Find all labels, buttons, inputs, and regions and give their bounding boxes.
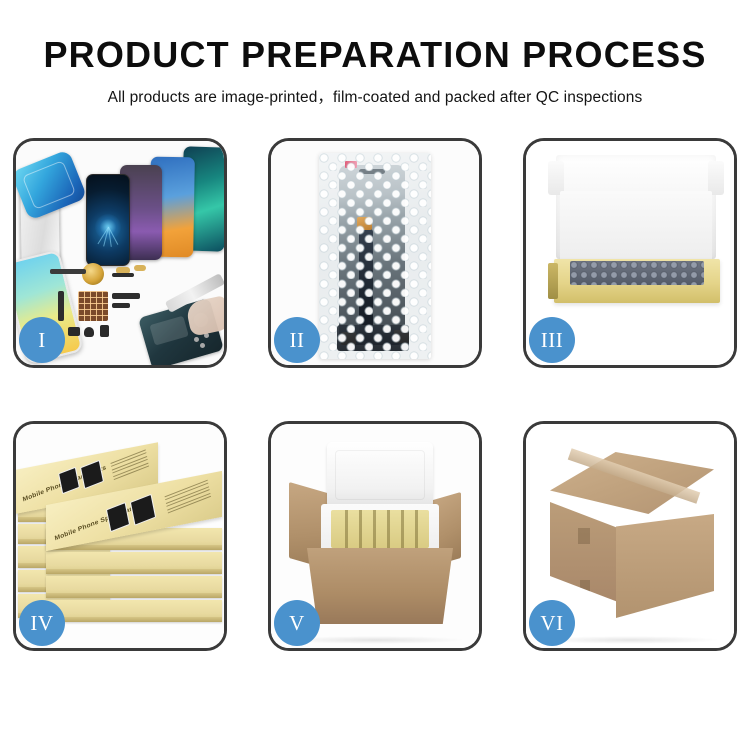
page-header: PRODUCT PREPARATION PROCESS All products… [0, 34, 750, 107]
screw-part [194, 337, 199, 342]
step-badge-1: I [19, 317, 65, 363]
step-badge-2: II [274, 317, 320, 363]
speaker-coil-part [82, 263, 104, 285]
process-steps-grid: I II [13, 138, 737, 651]
flex-cable-part [112, 293, 140, 299]
step-badge-3: III [529, 317, 575, 363]
bubble-wrap-bag [319, 153, 431, 359]
earpiece-mesh-part [50, 269, 86, 274]
flex-cable-part [58, 291, 64, 321]
carton-seam [580, 580, 590, 592]
lid-spec-lines [110, 449, 149, 482]
lid-screen-thumbnail [58, 467, 80, 495]
carton-front-panel [307, 548, 453, 624]
battery-connector-part [100, 325, 109, 337]
bubble-wrapped-contents [570, 261, 704, 285]
lid-screen-thumbnail [80, 460, 104, 489]
stacked-box [46, 552, 222, 574]
screw-part [200, 343, 205, 348]
gold-connector-part [134, 265, 146, 271]
carton-seam [578, 528, 590, 544]
step-badge-5: V [274, 600, 320, 646]
process-step-panel-4: Mobile Phone Spare Parts Mobile Phone Sp… [13, 421, 227, 651]
foam-back-panel [560, 191, 712, 263]
yellow-box-tray [554, 259, 720, 303]
process-step-panel-3: III [523, 138, 737, 368]
page-title: PRODUCT PREPARATION PROCESS [0, 34, 750, 76]
lid-spec-lines [164, 480, 211, 516]
phone-black-jellyfish [86, 174, 130, 266]
stacked-box [46, 576, 222, 598]
step-badge-4: IV [19, 600, 65, 646]
small-component-part [84, 327, 94, 337]
carton-right-face [616, 514, 714, 618]
flex-cable-part [112, 273, 134, 277]
bubble-texture-overlay [319, 153, 431, 359]
process-step-panel-1: I [13, 138, 227, 368]
stacked-box [46, 600, 222, 622]
circuit-grid-part [78, 291, 108, 321]
foam-lid-open [327, 442, 433, 508]
process-step-panel-2: II [268, 138, 482, 368]
small-component-part [68, 327, 80, 336]
carton-left-face [550, 502, 618, 602]
process-step-panel-5: V [268, 421, 482, 651]
flex-cable-part [112, 303, 130, 308]
page-subtitle: All products are image-printed，film-coat… [0, 85, 750, 107]
product-preparation-process-page: PRODUCT PREPARATION PROCESS All products… [0, 0, 750, 750]
lid-screen-thumbnail [130, 494, 156, 526]
step-badge-6: VI [529, 600, 575, 646]
process-step-panel-6: VI [523, 421, 737, 651]
lid-screen-thumbnail [106, 502, 130, 532]
yellow-boxes-inside [331, 510, 429, 548]
